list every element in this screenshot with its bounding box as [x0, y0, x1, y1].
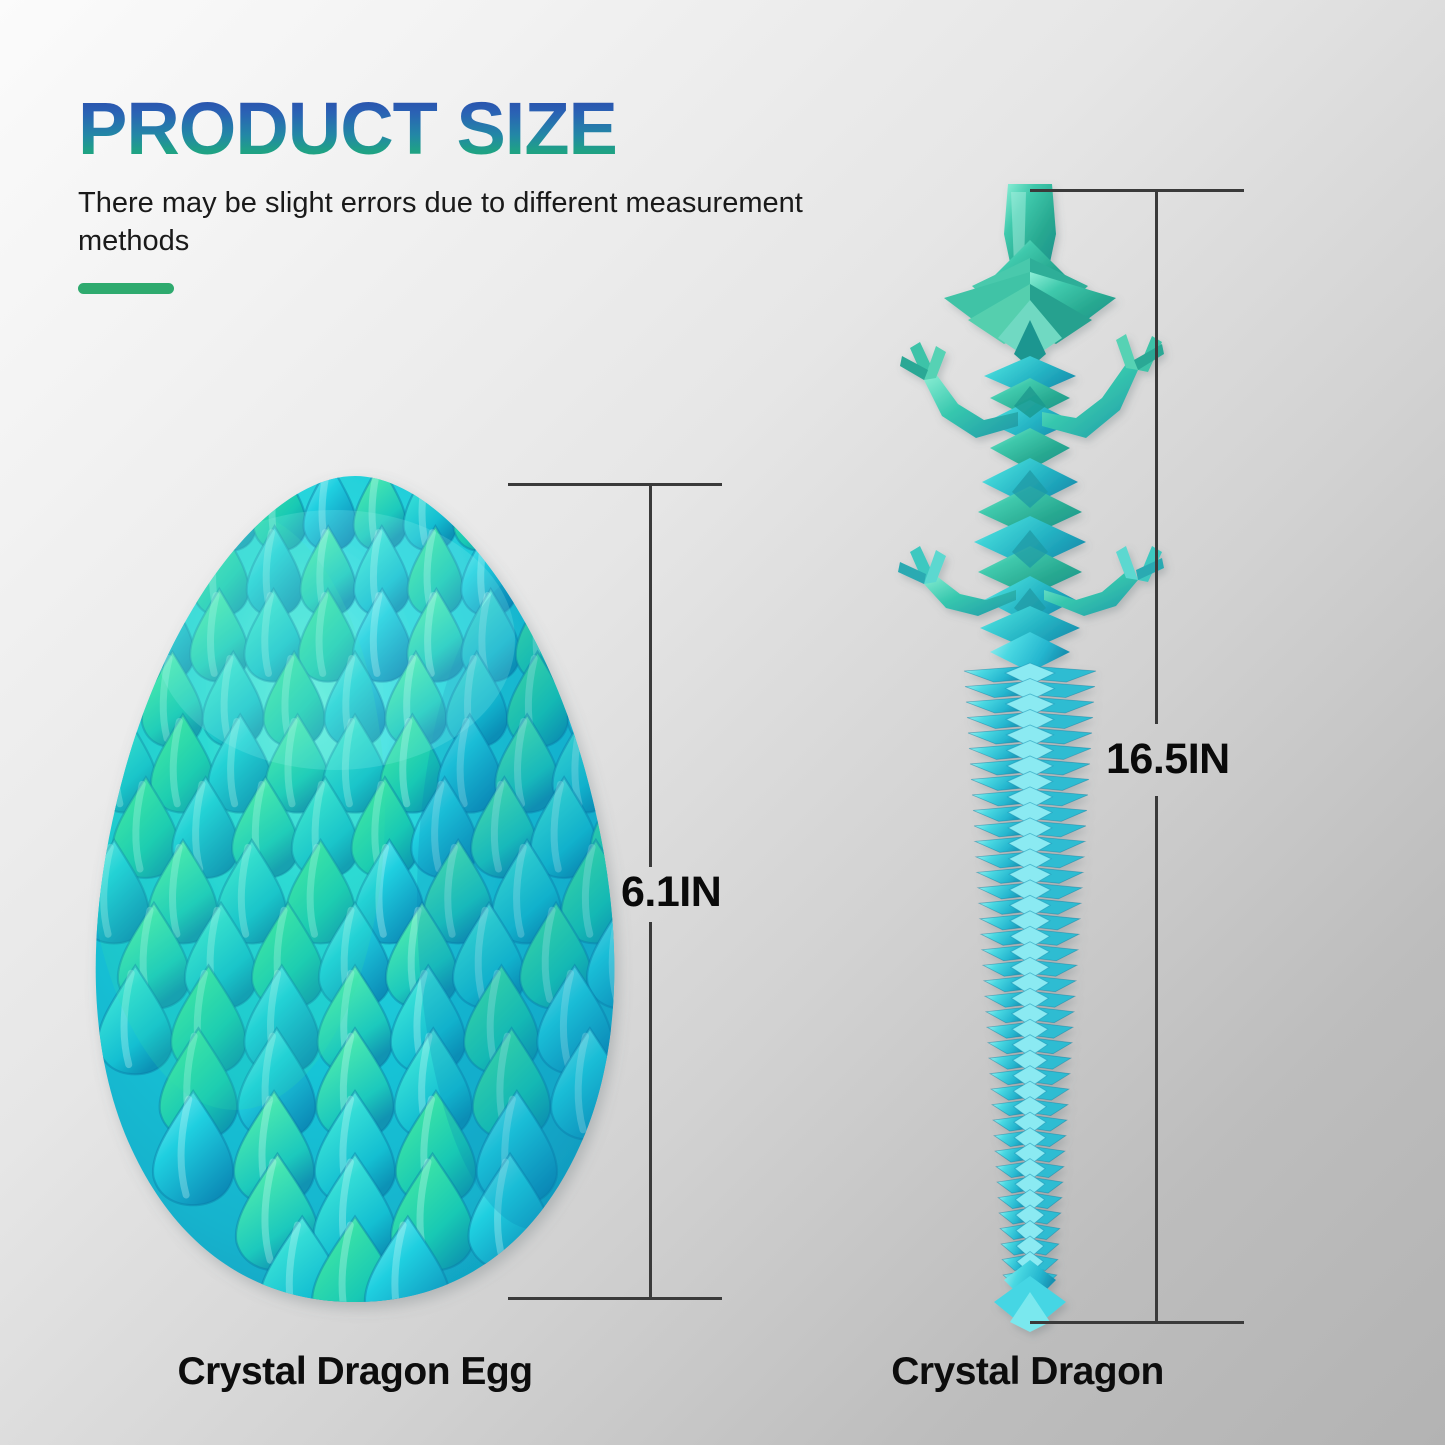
page-subtitle: There may be slight errors due to differ…: [78, 184, 868, 261]
dragon-neck: [984, 356, 1076, 470]
egg-svg: [85, 470, 645, 1320]
header-block: PRODUCT SIZE There may be slight errors …: [78, 92, 978, 294]
dragon-tail-tip: [994, 1260, 1066, 1332]
egg-scale-highlight: [589, 659, 595, 739]
egg-dimension-label: 6.1IN: [621, 868, 721, 917]
egg-scale-highlight: [472, 470, 477, 543]
egg-scale: [454, 463, 507, 550]
egg-scale-highlight: [222, 470, 227, 543]
egg-dimension-stem-upper: [649, 483, 652, 867]
dragon-tail: [964, 663, 1096, 1289]
egg-dimension-stem-lower: [649, 922, 652, 1300]
egg-scale: [568, 652, 629, 747]
egg-scale-highlight: [614, 784, 620, 869]
egg-scale-highlight: [534, 533, 539, 609]
egg-scale-highlight: [156, 596, 162, 674]
crystal-dragon-egg-image: [85, 470, 645, 1320]
caption-crystal-dragon: Crystal Dragon: [760, 1350, 1295, 1394]
dragon-dimension-label: 16.5IN: [1106, 735, 1230, 784]
accent-bar-divider: [78, 283, 174, 294]
dragon-head: [944, 184, 1116, 368]
caption-crystal-dragon-egg: Crystal Dragon Egg: [0, 1350, 710, 1394]
page-title: PRODUCT SIZE: [78, 92, 978, 166]
egg-scale: [515, 526, 571, 616]
infographic-canvas: PRODUCT SIZE There may be slight errors …: [0, 0, 1445, 1445]
